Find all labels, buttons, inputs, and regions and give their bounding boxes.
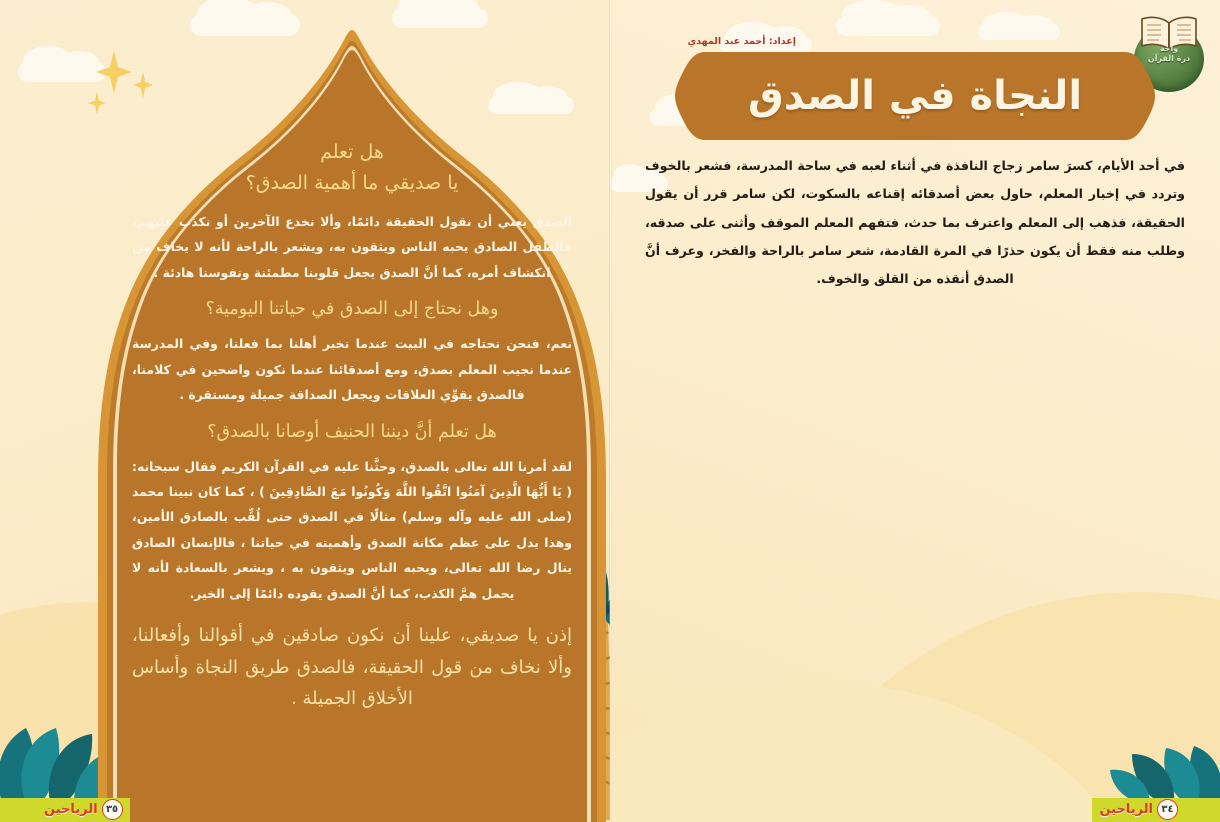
paragraph-2: نعم، فنحن نحتاجه في البيت عندما نخبر أهل… <box>132 331 572 407</box>
question-2: وهل نحتاج إلى الصدق في حياتنا اليومية؟ <box>132 295 572 323</box>
cloud-icon <box>978 24 1060 40</box>
subheading-question: يا صديقي ما أهمية الصدق؟ <box>132 169 572 198</box>
page-number-right: ٣٤ <box>1157 799 1178 820</box>
cloud-icon <box>836 16 940 36</box>
title-banner: النجاة في الصدق <box>610 52 1220 140</box>
footer-logo-left: الرياحين <box>44 802 98 817</box>
article-title: النجاة في الصدق <box>675 52 1155 140</box>
paragraph-1: الصدق يعني أن نقول الحقيقة دائمًا، وألا … <box>132 209 572 285</box>
left-page: هل تعلم يا صديقي ما أهمية الصدق؟ الصدق ي… <box>0 0 610 822</box>
magazine-spread: هل تعلم يا صديقي ما أهمية الصدق؟ الصدق ي… <box>0 0 1220 822</box>
paragraph-3: لقد أمرنا الله تعالى بالصدق، وحثَّنا علي… <box>132 454 572 607</box>
page-footer-left: ٣٥ الرياحين <box>44 799 123 820</box>
page-footer-right: ٣٤ الرياحين <box>1099 799 1178 820</box>
right-page: إعداد: أحمد عبد المهدي واحة درة القرآن ا… <box>610 0 1220 822</box>
footer-logo-right: الرياحين <box>1099 802 1153 817</box>
kicker-heading: هل تعلم <box>132 138 572 167</box>
question-3: هل تعلم أنَّ ديننا الحنيف أوصانا بالصدق؟ <box>132 418 572 446</box>
byline: إعداد: أحمد عبد المهدي <box>687 36 796 47</box>
cloud-icon <box>392 8 488 28</box>
decorative-arch-panel: هل تعلم يا صديقي ما أهمية الصدق؟ الصدق ي… <box>92 30 610 822</box>
page-number-left: ٣٥ <box>102 799 123 820</box>
arch-text-content: هل تعلم يا صديقي ما أهمية الصدق؟ الصدق ي… <box>118 138 586 822</box>
closing-paragraph: إذن يا صديقي، علينا أن نكون صادقين في أق… <box>132 620 572 715</box>
page-gutter <box>609 0 612 822</box>
story-paragraph: في أحد الأيام، كسرَ سامر زجاج النافذة في… <box>645 152 1185 294</box>
leaf-cluster-icon <box>1106 724 1220 804</box>
